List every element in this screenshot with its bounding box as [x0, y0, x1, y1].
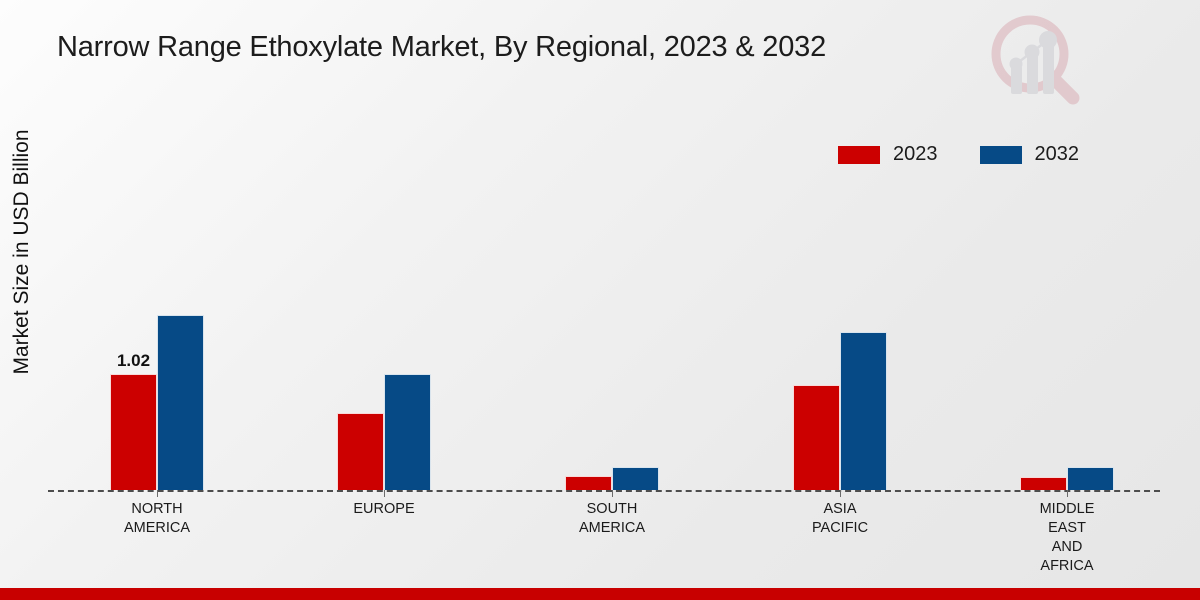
bar-rect [565, 476, 612, 490]
axis-tick [1067, 490, 1068, 497]
bar-2032[interactable] [157, 315, 204, 490]
plot-area: 1.02 NORTH AMERICAEUROPESOUTH AMERICAASI… [0, 0, 1200, 600]
bar-group [565, 160, 659, 490]
bar-2032[interactable] [1067, 467, 1114, 490]
bar-2032[interactable] [840, 332, 887, 490]
bar-rect [793, 385, 840, 490]
bar-2023[interactable] [1020, 477, 1067, 490]
category-label: MIDDLE EAST AND AFRICA [987, 500, 1147, 576]
axis-tick [157, 490, 158, 497]
bar-2023[interactable]: 1.02 [110, 374, 157, 490]
bar-rect [840, 332, 887, 490]
bar-rect [1067, 467, 1114, 490]
axis-tick [384, 490, 385, 497]
bar-group [1020, 160, 1114, 490]
bar-group [337, 160, 431, 490]
bar-2032[interactable] [612, 467, 659, 490]
bar-rect [384, 374, 431, 490]
bar-rect [157, 315, 204, 490]
axis-tick [612, 490, 613, 497]
footer-accent-bar [0, 588, 1200, 600]
bar-group: 1.02 [110, 160, 204, 490]
bar-rect [110, 374, 157, 490]
axis-tick [840, 490, 841, 497]
bar-rect [1020, 477, 1067, 490]
category-label: ASIA PACIFIC [760, 500, 920, 538]
bar-2023[interactable] [565, 476, 612, 490]
bar-2032[interactable] [384, 374, 431, 490]
bar-rect [337, 413, 384, 490]
bar-2023[interactable] [793, 385, 840, 490]
bar-value-label: 1.02 [117, 351, 150, 371]
category-label: EUROPE [304, 500, 464, 519]
category-label: SOUTH AMERICA [532, 500, 692, 538]
axis-baseline [48, 490, 1160, 492]
chart-canvas: Narrow Range Ethoxylate Market, By Regio… [0, 0, 1200, 600]
category-label: NORTH AMERICA [77, 500, 237, 538]
bar-group [793, 160, 887, 490]
bar-rect [612, 467, 659, 490]
bar-2023[interactable] [337, 413, 384, 490]
